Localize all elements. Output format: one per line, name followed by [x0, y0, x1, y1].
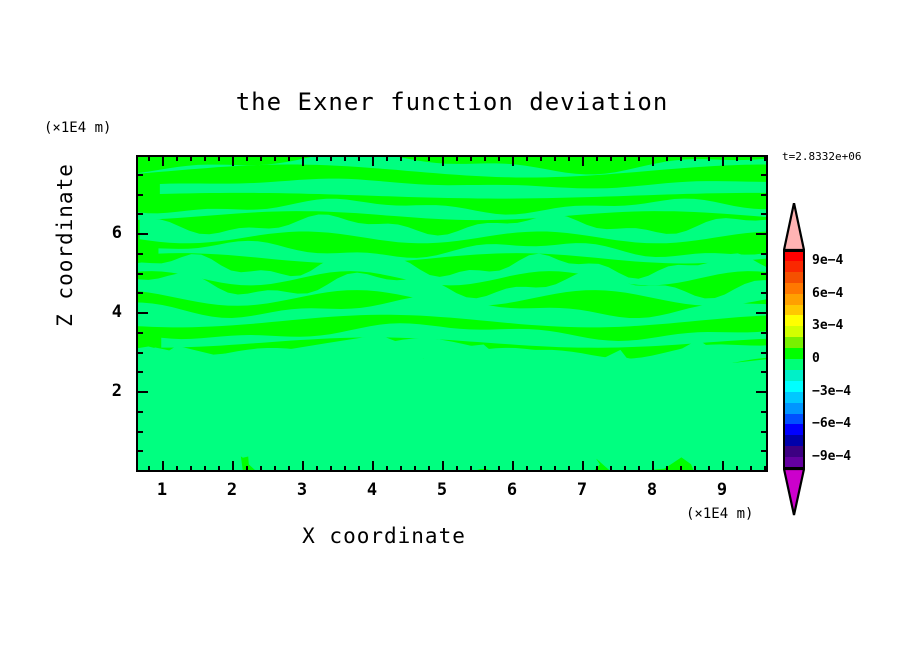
- x-tick-label: 7: [567, 480, 597, 500]
- colorbar-cell: [783, 283, 805, 295]
- colorbar-cell: [783, 337, 805, 349]
- colorbar-cell: [783, 261, 805, 273]
- x-axis-unit-label: (×1E4 m): [686, 506, 753, 522]
- colorbar-tick-label: −3e−4: [812, 384, 851, 399]
- colorbar-cell: [783, 381, 805, 393]
- colorbar-cell: [783, 272, 805, 284]
- colorbar-tick-label: 0: [812, 351, 820, 366]
- colorbar-cell: [783, 326, 805, 338]
- contour-field: [138, 157, 766, 470]
- colorbar-cell: [783, 348, 805, 360]
- colorbar-cell: [783, 250, 805, 262]
- colorbar-cell: [783, 446, 805, 458]
- colorbar-under-arrow: [783, 468, 805, 516]
- y-tick-label: 2: [96, 381, 122, 401]
- colorbar-cell: [783, 305, 805, 317]
- colorbar-cell: [783, 294, 805, 306]
- colorbar-cell: [783, 424, 805, 436]
- colorbar-tick-label: 3e−4: [812, 318, 843, 333]
- x-tick-label: 1: [147, 480, 177, 500]
- y-tick-label: 4: [96, 302, 122, 322]
- x-tick-label: 9: [707, 480, 737, 500]
- colorbar-cell: [783, 414, 805, 426]
- colorbar-tick-label: 9e−4: [812, 253, 843, 268]
- colorbar-over-arrow: [783, 203, 805, 251]
- x-tick-label: 8: [637, 480, 667, 500]
- x-tick-label: 6: [497, 480, 527, 500]
- colorbar-cell: [783, 435, 805, 447]
- colorbar-cell: [783, 315, 805, 327]
- colorbar-cell: [783, 359, 805, 371]
- colorbar-tick-label: −9e−4: [812, 449, 851, 464]
- colorbar-tick-label: 6e−4: [812, 286, 843, 301]
- x-tick-label: 3: [287, 480, 317, 500]
- colorbar-cell: [783, 403, 805, 415]
- x-tick-label: 4: [357, 480, 387, 500]
- timestamp-label: t=2.8332e+06: [782, 150, 861, 163]
- page-title: the Exner function deviation: [0, 88, 904, 116]
- colorbar-tick-label: −6e−4: [812, 416, 851, 431]
- x-tick-label: 5: [427, 480, 457, 500]
- y-axis-label-wrap: Z coordinate: [53, 115, 83, 375]
- colorbar-cell: [783, 370, 805, 382]
- y-axis-label: Z coordinate: [53, 115, 77, 375]
- y-tick-label: 6: [96, 223, 122, 243]
- x-axis-label: X coordinate: [0, 524, 768, 548]
- colorbar-cell: [783, 392, 805, 404]
- colorbar-cell: [783, 457, 805, 469]
- x-tick-label: 2: [217, 480, 247, 500]
- contour-plot-area: [136, 155, 768, 472]
